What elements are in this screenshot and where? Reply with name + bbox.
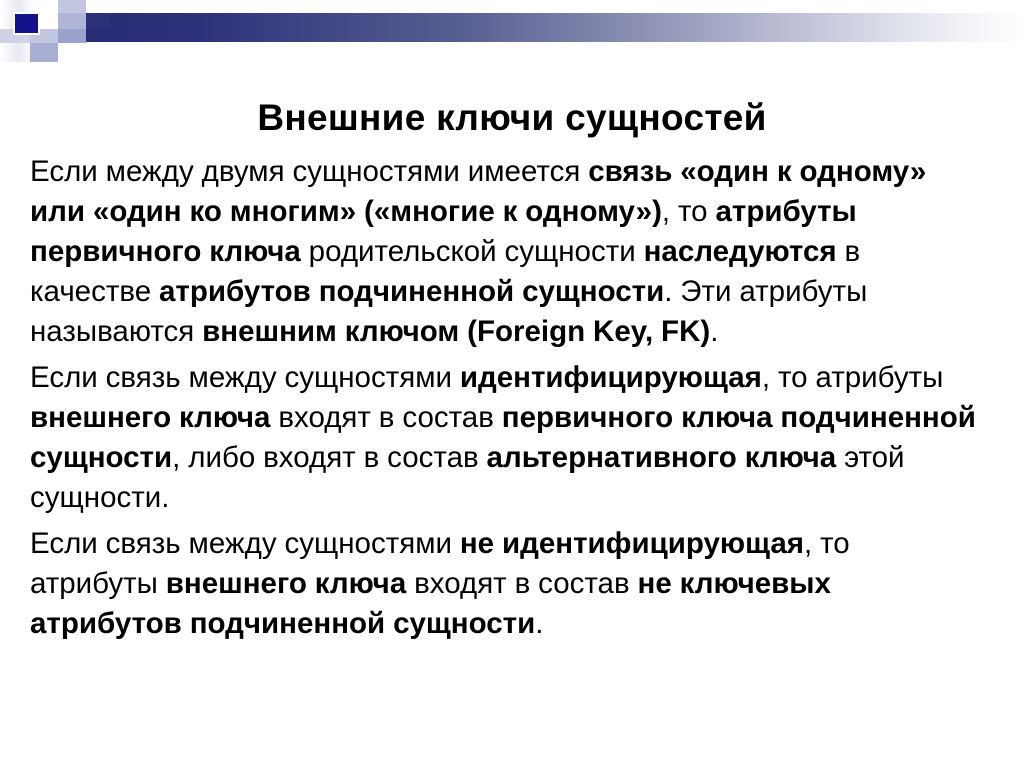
text-run-1: не идентифицирующая — [460, 527, 804, 560]
text-run-7: атрибутов подчиненной сущности — [159, 275, 664, 308]
text-run-9: внешним ключом (Foreign Key, FK) — [202, 315, 710, 348]
decoration-square-g — [86, 13, 110, 29]
paragraph-1: Если между двумя сущностями имеется связ… — [30, 152, 982, 352]
slide-header-decoration — [0, 0, 1024, 62]
paragraph-2: Если связь между сущностями идентифициру… — [30, 358, 982, 518]
text-run-5: наследуются — [644, 235, 837, 268]
decoration-square-e — [30, 43, 58, 62]
text-run-10: . — [710, 315, 718, 348]
text-run-2: , то атрибуты — [762, 361, 943, 394]
slide-title: Внешние ключи сущностей — [0, 95, 1024, 141]
decoration-square-b — [58, 13, 86, 29]
text-run-0: Если связь между сущностями — [30, 361, 460, 394]
decoration-gradient-bar — [60, 13, 1024, 42]
decoration-square-d — [58, 29, 86, 43]
text-run-0: Если связь между сущностями — [30, 527, 460, 560]
text-run-3: внешнего ключа — [30, 401, 270, 434]
text-run-4: входят в состав — [270, 401, 501, 434]
text-run-7: альтернативного ключа — [487, 441, 837, 474]
text-run-3: внешнего ключа — [166, 567, 406, 600]
decoration-accent-square — [13, 12, 40, 35]
text-run-6: . — [535, 607, 543, 640]
text-run-4: входят в состав — [406, 567, 637, 600]
text-run-2: , то — [662, 195, 716, 228]
text-run-4: родительской сущности — [301, 235, 644, 268]
decoration-square-a — [58, 0, 86, 13]
text-run-1: идентифицирующая — [460, 361, 762, 394]
paragraph-3: Если связь между сущностями не идентифиц… — [30, 524, 982, 644]
text-run-6: , либо входят в состав — [172, 441, 486, 474]
slide-body: Если между двумя сущностями имеется связ… — [30, 152, 982, 650]
text-run-0: Если между двумя сущностями имеется — [30, 155, 588, 188]
